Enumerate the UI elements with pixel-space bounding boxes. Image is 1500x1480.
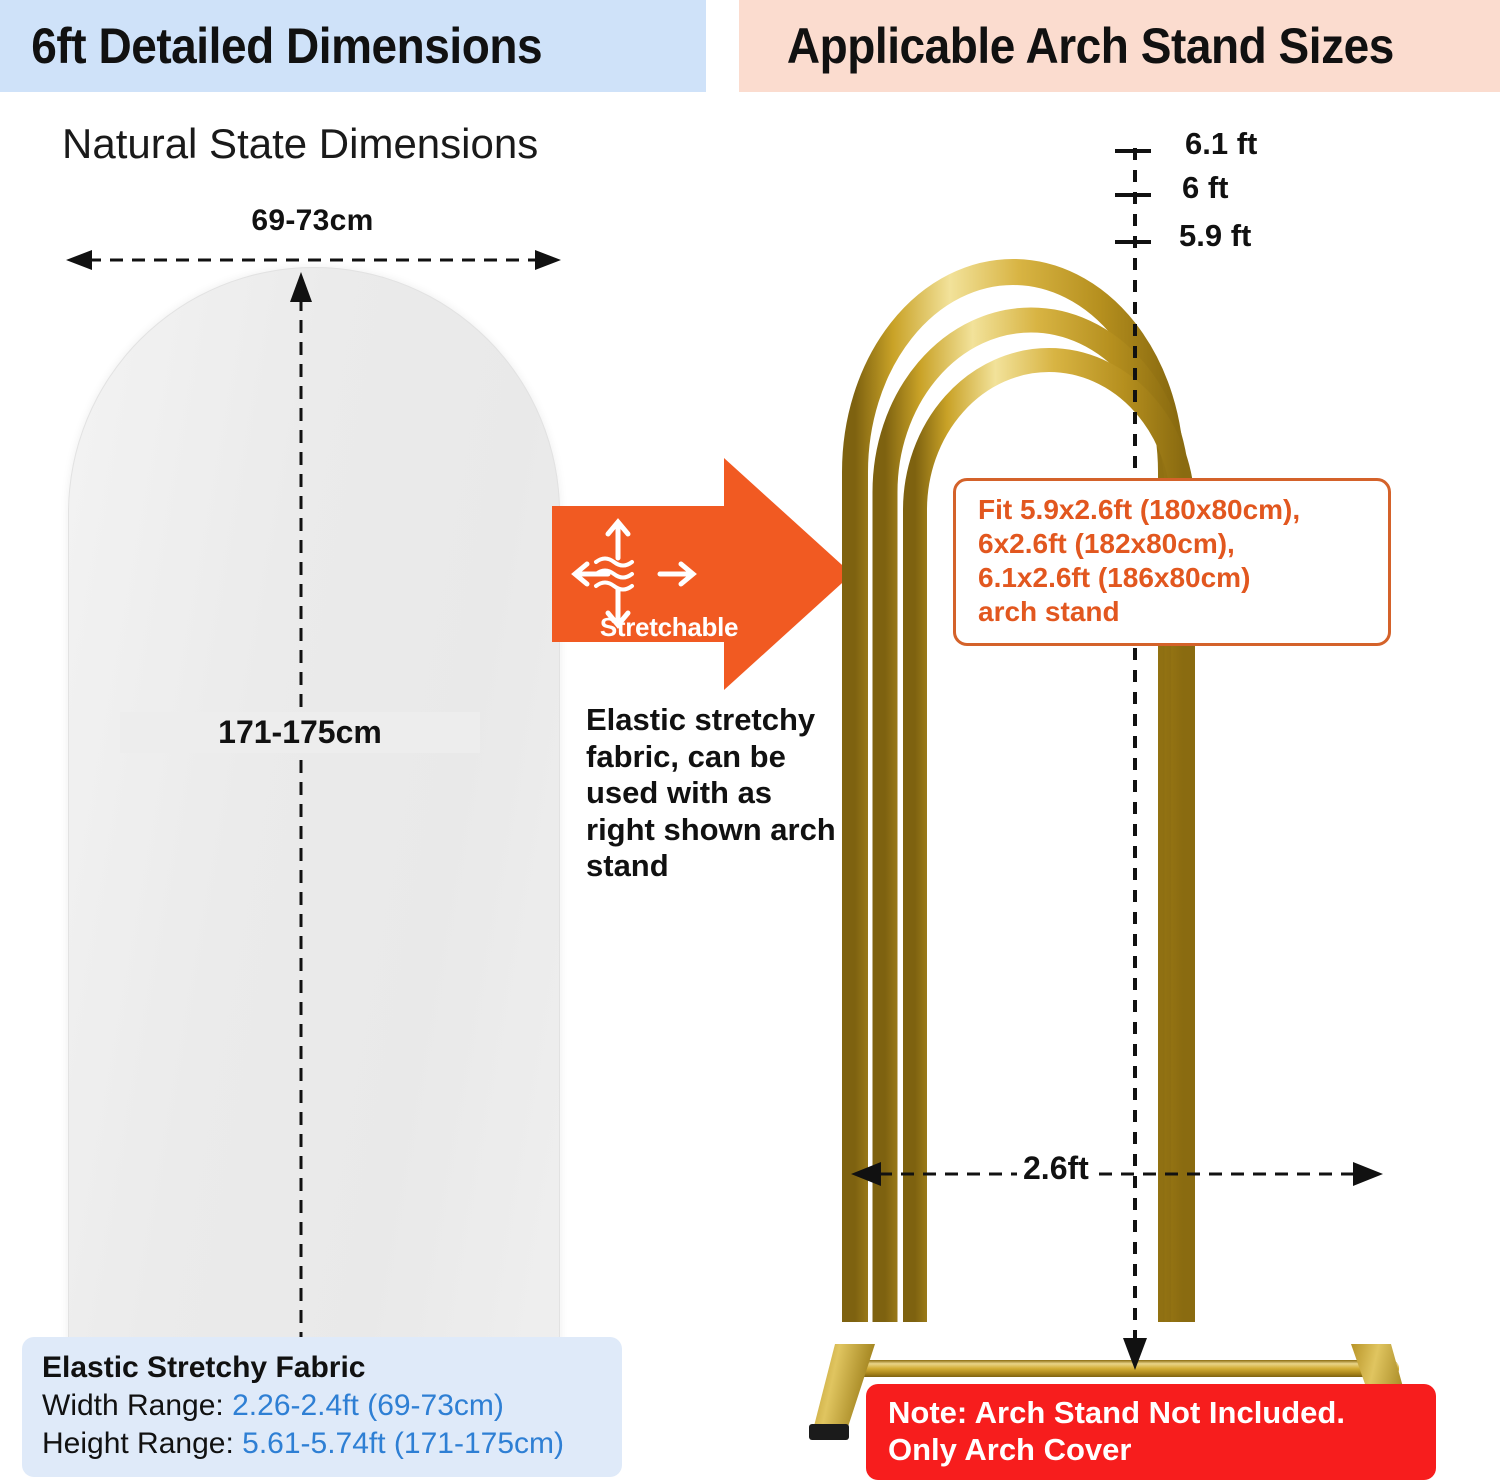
fit-line-1: Fit 5.9x2.6ft (180x80cm), xyxy=(978,493,1374,527)
height-range-value: 5.61-5.74ft (171-175cm) xyxy=(242,1427,564,1460)
header-banner-left: 6ft Detailed Dimensions xyxy=(0,0,706,92)
arch-stand-note-box: Note: Arch Stand Not Included. Only Arch… xyxy=(866,1384,1436,1480)
arch-cover-shape xyxy=(68,267,560,1407)
width-dimension-label: 69-73cm xyxy=(0,204,625,238)
width-dimension-arrow-icon xyxy=(66,250,561,270)
arch-height-label-1: 6.1 ft xyxy=(1185,126,1257,162)
header-banner-right: Applicable Arch Stand Sizes xyxy=(739,0,1500,92)
page-title-left: 6ft Detailed Dimensions xyxy=(0,21,542,71)
fit-sizes-box: Fit 5.9x2.6ft (180x80cm), 6x2.6ft (182x8… xyxy=(953,478,1391,646)
note-line-1: Note: Arch Stand Not Included. xyxy=(888,1394,1428,1431)
info-row-width: Width Range: 2.26-2.4ft (69-73cm) xyxy=(42,1387,606,1425)
width-range-label: Width Range: xyxy=(42,1389,224,1422)
natural-state-subtitle: Natural State Dimensions xyxy=(62,120,538,168)
fit-line-4: arch stand xyxy=(978,595,1374,629)
stand-width-label: 2.6ft xyxy=(1017,1150,1095,1187)
arch-stand-illustration xyxy=(739,92,1500,1476)
right-panel: 6.1 ft 6 ft 5.9 ft Fit 5.9x2.6ft (180x80… xyxy=(739,92,1500,1476)
fit-line-3: 6.1x2.6ft (186x80cm) xyxy=(978,561,1374,595)
note-line-2: Only Arch Cover xyxy=(888,1431,1428,1468)
height-dimension-arrow-icon xyxy=(290,272,312,1400)
page-title-right: Applicable Arch Stand Sizes xyxy=(739,21,1394,71)
width-range-value: 2.26-2.4ft (69-73cm) xyxy=(232,1389,504,1422)
info-row-height: Height Range: 5.61-5.74ft (171-175cm) xyxy=(42,1425,606,1463)
height-range-label: Height Range: xyxy=(42,1427,234,1460)
arch-height-label-3: 5.9 ft xyxy=(1179,218,1251,254)
fit-line-2: 6x2.6ft (182x80cm), xyxy=(978,527,1374,561)
height-dimension-label: 171-175cm xyxy=(120,712,480,753)
elastic-fabric-info-box: Elastic Stretchy Fabric Width Range: 2.2… xyxy=(22,1337,622,1477)
arch-height-label-2: 6 ft xyxy=(1182,170,1229,206)
stretchable-label: Stretchable xyxy=(584,612,754,643)
info-box-title: Elastic Stretchy Fabric xyxy=(42,1349,606,1387)
